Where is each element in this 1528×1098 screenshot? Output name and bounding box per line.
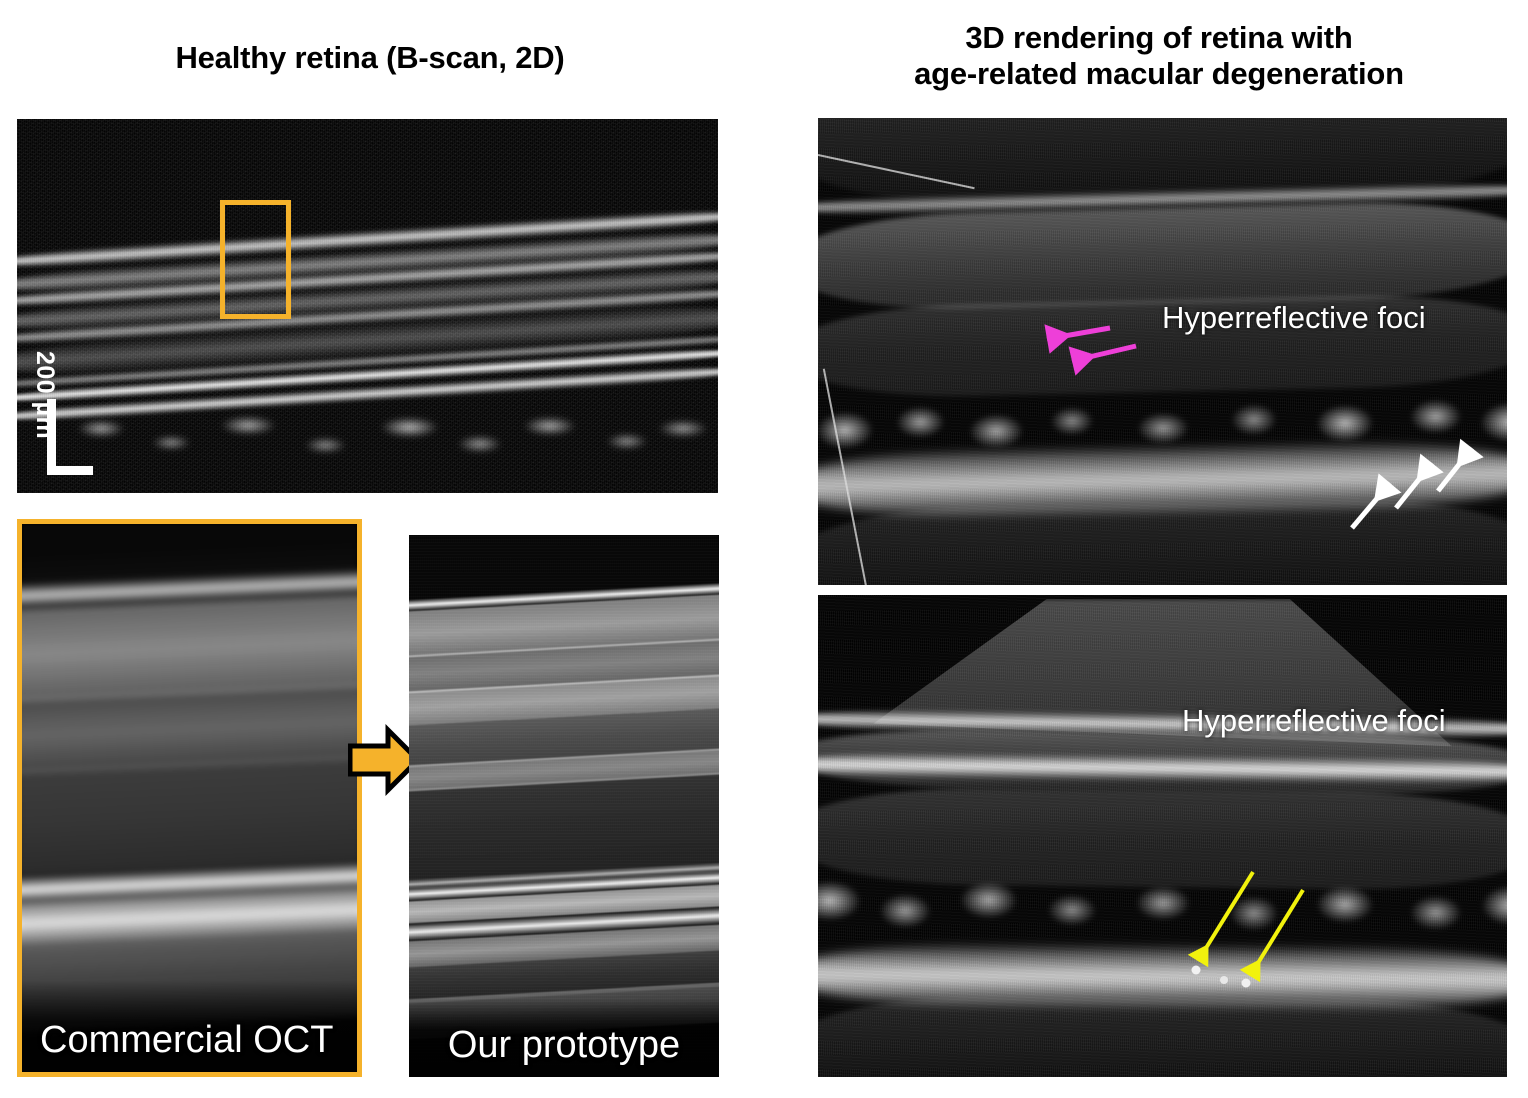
amd-3d-top-panel: Hyperreflective foci [818, 118, 1507, 585]
yellow-arrow-1 [1198, 872, 1253, 961]
page-title-right-line2: age-related macular degeneration [790, 56, 1528, 92]
healthy-retina-bscan-panel: 200 µm [17, 119, 718, 493]
commercial-oct-caption: Commercial OCT [22, 1013, 357, 1072]
prototype-oct-panel: Our prototype [409, 535, 719, 1077]
page-title-right: 3D rendering of retina with age-related … [790, 20, 1528, 92]
commercial-oct-image: Commercial OCT [22, 524, 357, 1072]
scale-bar: 200 µm [33, 349, 105, 475]
choroid-speckle [17, 403, 718, 467]
white-arrow-2 [1396, 463, 1432, 508]
hyperreflective-focus-point-2 [1220, 976, 1228, 984]
page-title-left: Healthy retina (B-scan, 2D) [0, 40, 740, 76]
amd-top-hyperreflective-foci-label: Hyperreflective foci [1162, 300, 1426, 336]
prototype-oct-noise [409, 535, 719, 1077]
yellow-arrow-2 [1250, 890, 1303, 976]
hyperreflective-focus-point-3 [1242, 979, 1251, 988]
amd-3d-bottom-panel: Hyperreflective foci [818, 595, 1507, 1077]
white-arrow-1 [1352, 483, 1390, 528]
commercial-oct-panel: Commercial OCT [17, 519, 362, 1077]
prototype-caption: Our prototype [409, 1018, 719, 1077]
white-arrow-3 [1438, 448, 1472, 491]
hyperreflective-focus-point-1 [1192, 966, 1201, 975]
amd-bottom-arrow-annotations [818, 595, 1507, 1077]
magenta-arrow-2 [1072, 346, 1136, 361]
amd-top-arrow-annotations [818, 118, 1507, 585]
scale-bar-label: 200 µm [30, 351, 59, 439]
page-title-right-line1: 3D rendering of retina with [790, 20, 1528, 56]
figure-root: Healthy retina (B-scan, 2D) 3D rendering… [0, 0, 1528, 1098]
magenta-arrow-1 [1047, 328, 1110, 339]
amd-bottom-hyperreflective-foci-label: Hyperreflective foci [1182, 703, 1446, 739]
scale-bar-horizontal-tick [47, 466, 93, 475]
